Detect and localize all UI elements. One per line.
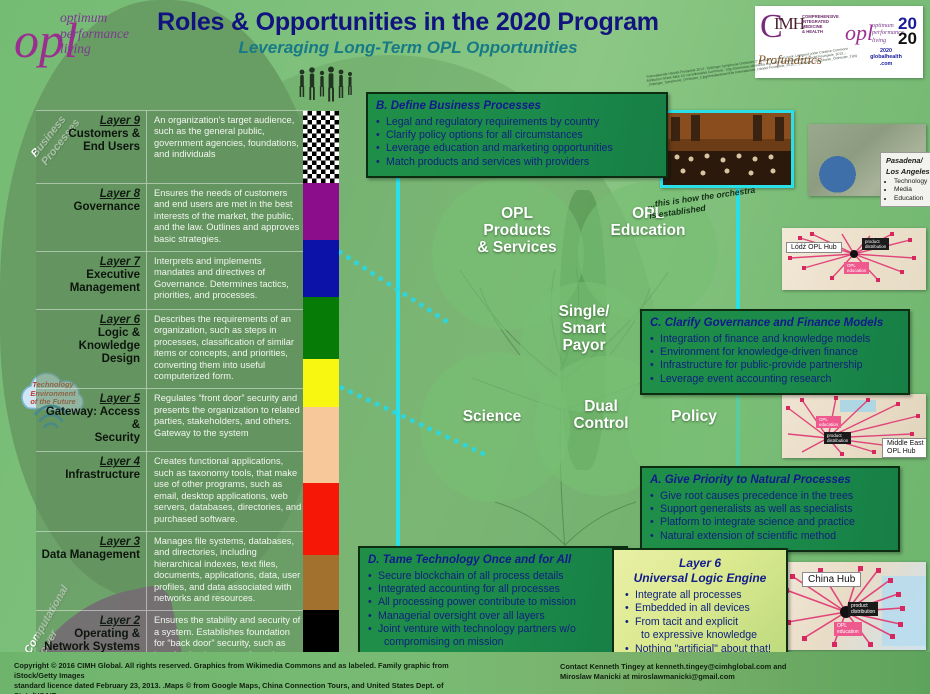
layer-color-chips bbox=[303, 111, 339, 672]
footer-copyright-line1: Copyright © 2016 CIMH Global. All rights… bbox=[14, 661, 464, 681]
layer-description: Ensures the needs of customers and end u… bbox=[146, 184, 308, 251]
layers-table: Layer 9Customers & End UsersAn organizat… bbox=[36, 110, 308, 694]
layer6-box-title-line2: Universal Logic Engine bbox=[624, 571, 776, 586]
list-item: Technology bbox=[894, 178, 930, 186]
list-item: Education bbox=[894, 195, 930, 203]
map-label-me-line2: OPL Hub bbox=[887, 448, 916, 455]
table-row: Layer 8GovernanceEnsures the needs of cu… bbox=[36, 184, 308, 252]
layer-name: Governance bbox=[38, 201, 140, 214]
map-tag-me-education: OPL education bbox=[816, 416, 841, 428]
layer-label-cell: Layer 6Logic & Knowledge Design bbox=[36, 310, 146, 388]
orchestra-photo bbox=[660, 110, 794, 188]
map-label-me-line1: Middle East bbox=[887, 440, 924, 447]
list-item: Integration of finance and knowledge mod… bbox=[650, 333, 900, 346]
map-label-pasadena-bullets: Technology Media Education bbox=[886, 178, 930, 203]
layer-name: Executive Management bbox=[38, 269, 140, 295]
layer-number: Layer 4 bbox=[38, 456, 140, 469]
opl-tagline-line2: performance bbox=[60, 26, 129, 42]
list-item: Managerial oversight over all layers bbox=[368, 610, 618, 623]
layer-color-chip bbox=[303, 111, 339, 183]
layer-color-chip bbox=[303, 183, 339, 240]
layer-description: Interprets and implements mandates and d… bbox=[146, 252, 308, 309]
layer-name: Gateway: Access & Security bbox=[38, 406, 140, 445]
map-label-china: China Hub bbox=[802, 572, 861, 587]
map-tag-china-education: OPL education bbox=[834, 622, 862, 636]
cimh-logo-imh: IMH bbox=[774, 18, 804, 30]
map-label-pasadena: Pasadena/ Los Angeles Technology Media E… bbox=[880, 152, 930, 207]
layer-label-cell: Layer 9Customers & End Users bbox=[36, 111, 146, 183]
list-item: Legal and regulatory requirements by cou… bbox=[376, 116, 658, 129]
tree-label-policy: Policy bbox=[636, 408, 752, 425]
callout-box-a: A. Give Priority to Natural Processes Gi… bbox=[640, 466, 900, 552]
cimh-expansion-text: COMPREHENSIVE INTEGRATED MEDICINE & HEAL… bbox=[802, 14, 839, 34]
map-lodz-hub: product distribution OPL education Lódź … bbox=[782, 228, 926, 290]
layer-color-chip bbox=[303, 483, 339, 555]
list-item: Secure blockchain of all process details bbox=[368, 570, 618, 583]
footer-contact-line2: Miroslaw Manicki at miroslawmanicki@gmai… bbox=[560, 672, 920, 682]
callout-box-d: D. Tame Technology Once and for All Secu… bbox=[358, 546, 628, 658]
map-label-lodz: Lódź OPL Hub bbox=[786, 242, 842, 253]
list-item: All processing power contribute to missi… bbox=[368, 596, 618, 609]
layer-description: An organization's target audience, such … bbox=[146, 111, 308, 183]
layer-label-cell: Layer 5Gateway: Access & Security bbox=[36, 389, 146, 451]
footer-copyright: Copyright © 2016 CIMH Global. All rights… bbox=[14, 661, 464, 694]
callout-b-list: Legal and regulatory requirements by cou… bbox=[376, 116, 658, 169]
map-tag-me-hub: product distribution bbox=[824, 432, 851, 444]
list-item: Joint venture with technology partners w… bbox=[368, 623, 618, 636]
list-item: Environment for knowledge-driven finance bbox=[650, 346, 900, 359]
layer-number: Layer 2 bbox=[38, 615, 140, 628]
callout-box-b: B. Define Business Processes Legal and r… bbox=[366, 92, 668, 178]
layer-color-chip bbox=[303, 359, 339, 407]
callout-a-list: Give root causes precedence in the trees… bbox=[650, 490, 890, 543]
page-title: Roles & Opportunities in the 2020 Progra… bbox=[128, 8, 688, 37]
opl-tagline-line1: optimum bbox=[60, 10, 129, 26]
tree-label-science: Science bbox=[432, 408, 552, 425]
layer-description: Describes the requirements of an organiz… bbox=[146, 310, 308, 388]
opl-tagline-line3: living bbox=[60, 41, 129, 57]
map-china-hub: product distribution OPL education China… bbox=[782, 562, 926, 650]
table-row: Layer 5Gateway: Access & SecurityRegulat… bbox=[36, 389, 308, 452]
footer-copyright-line2: standard licence dated February 23, 2013… bbox=[14, 681, 464, 694]
layer6-box-list: Integrate all processes Embedded in all … bbox=[624, 589, 776, 656]
opl-logo-tagline: optimum performance living bbox=[60, 10, 129, 57]
layer-number: Layer 5 bbox=[38, 393, 140, 406]
list-item: From tacit and explicit bbox=[624, 616, 776, 629]
footer-contact-line1: Contact Kenneth Tingey at kenneth.tingey… bbox=[560, 662, 920, 672]
layer-name: Logic & Knowledge Design bbox=[38, 327, 140, 366]
callout-b-title: B. Define Business Processes bbox=[376, 99, 658, 113]
map-tag-lodz-education: OPL education bbox=[844, 262, 869, 274]
layer-number: Layer 7 bbox=[38, 256, 140, 269]
page-subtitle: Leveraging Long-Term OPL Opportunities bbox=[128, 38, 688, 58]
list-item: Integrate all processes bbox=[624, 589, 776, 602]
callout-c-list: Integration of finance and knowledge mod… bbox=[650, 333, 900, 386]
map-tag-china-hub: product distribution bbox=[848, 602, 878, 616]
list-item: Clarify policy options for all circumsta… bbox=[376, 129, 658, 142]
layer-color-chip bbox=[303, 407, 339, 483]
callout-box-c: C. Clarify Governance and Finance Models… bbox=[640, 309, 910, 395]
table-row: Layer 3Data ManagementManages file syste… bbox=[36, 532, 308, 611]
tree-label-products: OPL Products & Services bbox=[452, 205, 582, 256]
list-item-continuation: to expressive knowledge bbox=[624, 629, 776, 642]
globalhealth-label: 2020 globalhealth .com bbox=[864, 48, 908, 67]
opl-small-logo: opl bbox=[845, 22, 873, 44]
list-item: Infrastructure for public-provide partne… bbox=[650, 359, 900, 372]
layer6-box-title-line1: Layer 6 bbox=[624, 556, 776, 571]
list-item: Media bbox=[894, 186, 930, 194]
callout-a-title: A. Give Priority to Natural Processes bbox=[650, 473, 890, 487]
layer-name: Operating & Network Systems bbox=[38, 628, 140, 654]
list-item: Leverage event accounting research bbox=[650, 373, 900, 386]
layer-color-chip bbox=[303, 297, 339, 359]
list-item: Natural extension of scientific method bbox=[650, 530, 890, 543]
layer-name: Infrastructure bbox=[38, 469, 140, 482]
layer-number: Layer 6 bbox=[38, 314, 140, 327]
list-item: Support generalists as well as specialis… bbox=[650, 503, 890, 516]
table-row: Layer 7Executive ManagementInterprets an… bbox=[36, 252, 308, 310]
map-middle-east-hub: OPL education product distribution Middl… bbox=[782, 394, 926, 458]
layer-color-chip bbox=[303, 240, 339, 297]
list-item: Match products and services with provide… bbox=[376, 156, 658, 169]
tree-label-payor: Single/ Smart Payor bbox=[528, 303, 640, 354]
family-silhouette-icon bbox=[296, 66, 356, 110]
callout-d-list: Secure blockchain of all process details… bbox=[368, 570, 618, 649]
list-item: Integrated accounting for all processes bbox=[368, 583, 618, 596]
map-label-middle-east: Middle East OPL Hub bbox=[882, 438, 926, 458]
list-item-continuation: compromising on mission bbox=[368, 636, 618, 649]
year-2020-bottom: 20 bbox=[898, 31, 917, 47]
callout-c-title: C. Clarify Governance and Finance Models bbox=[650, 316, 900, 330]
layer-label-cell: Layer 4Infrastructure bbox=[36, 452, 146, 530]
table-row: Layer 6Logic & Knowledge DesignDescribes… bbox=[36, 310, 308, 389]
layer-description: Manages file systems, databases, and dir… bbox=[146, 532, 308, 610]
layer-description: Creates functional applications, such as… bbox=[146, 452, 308, 530]
layer-name: Data Management bbox=[38, 549, 140, 562]
map-tag-lodz-hub: product distribution bbox=[862, 238, 889, 250]
map-label-pasadena-line2: Los Angeles bbox=[886, 167, 930, 176]
layer-number: Layer 9 bbox=[38, 115, 140, 128]
list-item: Embedded in all devices bbox=[624, 602, 776, 615]
callout-d-title: D. Tame Technology Once and for All bbox=[368, 553, 618, 567]
table-row: Layer 4InfrastructureCreates functional … bbox=[36, 452, 308, 531]
map-label-pasadena-line1: Pasadena/ bbox=[886, 156, 930, 165]
layer-label-cell: Layer 3Data Management bbox=[36, 532, 146, 610]
footer-contact: Contact Kenneth Tingey at kenneth.tingey… bbox=[560, 662, 920, 682]
table-row: Layer 9Customers & End UsersAn organizat… bbox=[36, 110, 308, 184]
layer-description: Regulates “front door” security and pres… bbox=[146, 389, 308, 451]
list-item: Leverage education and marketing opportu… bbox=[376, 142, 658, 155]
list-item: Give root causes precedence in the trees bbox=[650, 490, 890, 503]
poster-canvas: OPL Products & Services OPL Education Si… bbox=[0, 0, 930, 694]
layer-label-cell: Layer 8Governance bbox=[36, 184, 146, 251]
layer-color-chip bbox=[303, 555, 339, 610]
list-item: Platform to integrate science and practi… bbox=[650, 516, 890, 529]
layer-number: Layer 3 bbox=[38, 536, 140, 549]
layer-name: Customers & End Users bbox=[38, 128, 140, 154]
layer6-engine-box: Layer 6 Universal Logic Engine Integrate… bbox=[612, 548, 788, 666]
layer-number: Layer 8 bbox=[38, 188, 140, 201]
layer-label-cell: Layer 7Executive Management bbox=[36, 252, 146, 309]
